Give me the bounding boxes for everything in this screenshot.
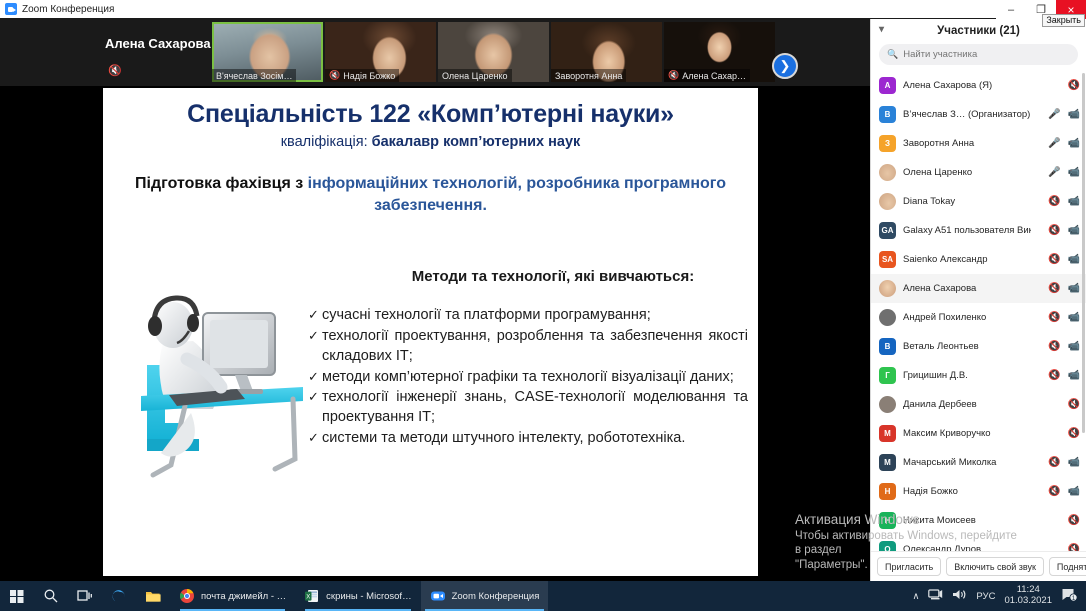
camera-muted-icon[interactable]: 📹 [1068, 458, 1080, 468]
microphone-muted-icon[interactable]: 🔇 [1048, 226, 1060, 236]
taskbar-app-chrome[interactable]: почта джимейл - … [170, 581, 295, 611]
list-item: ✓ технології інженерії знань, CASE-техно… [308, 388, 748, 428]
list-item: ✓ сучасні технології та платформи програ… [308, 306, 748, 326]
slide-lead-blue: інформаційних технологій, розробника про… [308, 175, 726, 214]
list-item[interactable]: A Алена Сахарова (Я) 🔇 [871, 71, 1086, 100]
active-speaker-name: Алена Сахарова [105, 36, 211, 51]
microphone-muted-icon: 🔇 [668, 71, 679, 80]
video-tile[interactable]: В'ячеслав Зосім… [212, 22, 323, 82]
camera-muted-icon[interactable]: 📹 [1068, 313, 1080, 323]
participant-status-icons: 🎤 📹 [1038, 139, 1080, 149]
microphone-muted-icon[interactable]: 🔇 [1068, 545, 1080, 552]
list-item[interactable]: З Заворотня Анна 🎤 📹 [871, 129, 1086, 158]
participant-status-icons: 🔇 📹 [1038, 371, 1080, 381]
slide-lead-text: Підготовка фахівця з інформаційних техно… [129, 173, 732, 216]
list-item-text: методи комп’ютерної графіки та технологі… [322, 368, 748, 388]
participant-name: Веталь Леонтьев [903, 341, 1031, 352]
language-indicator[interactable]: РУС [976, 591, 995, 602]
list-item[interactable]: M Мачарський Миколка 🔇 📹 [871, 448, 1086, 477]
microphone-muted-icon[interactable]: 🔇 [1048, 371, 1060, 381]
checkmark-icon: ✓ [308, 327, 322, 345]
video-tile-name-bar: Заворотня Анна [551, 69, 626, 82]
avatar: M [879, 454, 896, 471]
minimize-button[interactable]: – [996, 0, 1026, 19]
watermark-line-2: Чтобы активировать Windows, перейдите в … [795, 529, 1025, 558]
avatar [879, 309, 896, 326]
participant-status-icons: 🔇 📹 [1038, 458, 1080, 468]
avatar: M [879, 425, 896, 442]
methods-bullet-list: ✓ сучасні технології та платформи програ… [308, 306, 748, 450]
participant-status-icons: 🎤 📹 [1038, 110, 1080, 120]
avatar: H [879, 483, 896, 500]
list-item[interactable]: Г Грицишин Д.В. 🔇 📹 [871, 361, 1086, 390]
participant-name: Грицишин Д.В. [903, 370, 1031, 381]
clock-date: 01.03.2021 [1004, 596, 1052, 607]
participant-name: Алена Сахар… [682, 71, 746, 81]
participant-name: Saienko Александр [903, 254, 1031, 265]
slide-lead-black: Підготовка фахівця з [135, 175, 308, 192]
participant-name: Алена Сахарова [903, 283, 1031, 294]
camera-muted-icon[interactable]: 📹 [1068, 284, 1080, 294]
microphone-icon[interactable]: 🎤 [1048, 168, 1060, 178]
avatar: SA [879, 251, 896, 268]
microphone-muted-icon[interactable]: 🔇 [1048, 458, 1060, 468]
list-item-text: сучасні технології та платформи програму… [322, 306, 748, 326]
camera-muted-icon[interactable]: 📹 [1068, 226, 1080, 236]
participant-name: Алена Сахарова (Я) [903, 80, 1031, 91]
task-view-icon [77, 588, 93, 604]
methods-heading: Методи та технології, які вивчаються: [358, 268, 748, 285]
list-item[interactable]: Олена Царенко 🎤 📹 [871, 158, 1086, 187]
taskbar-app-excel[interactable]: X скрины - Microsof… [295, 581, 420, 611]
microphone-icon[interactable]: 🎤 [1048, 110, 1060, 120]
search-icon [43, 588, 59, 604]
list-item[interactable]: Diana Tokay 🔇 📹 [871, 187, 1086, 216]
camera-icon[interactable]: 📹 [1068, 487, 1080, 497]
person-at-computer-illustration [125, 273, 310, 498]
participant-status-icons: 🔇 📹 [1038, 197, 1080, 207]
microphone-icon[interactable]: 🎤 [1048, 139, 1060, 149]
camera-icon[interactable]: 📹 [1068, 110, 1080, 120]
checkmark-icon: ✓ [308, 429, 322, 447]
participant-status-icons: 🔇 📹 [1038, 255, 1080, 265]
participant-name: Надія Божко [903, 486, 1031, 497]
chrome-icon [179, 588, 195, 604]
filmstrip-next-button[interactable]: ❯ [772, 53, 798, 79]
avatar: Г [879, 367, 896, 384]
participant-status-icons: 🔇 📹 [1038, 226, 1080, 236]
participants-count-title: Участники (21) [937, 25, 1020, 37]
camera-muted-icon[interactable]: 📹 [1068, 197, 1080, 207]
participant-name: Заворотня Анна [903, 138, 1031, 149]
video-tile-name-bar: В'ячеслав Зосім… [212, 69, 296, 82]
participant-name: В’ячеслав З… (Организатор) [903, 109, 1031, 120]
slide-subtitle-label: кваліфікація: [281, 134, 372, 150]
participant-status-icons: 🔇 [1038, 400, 1080, 410]
participant-name: В'ячеслав Зосім… [216, 71, 292, 81]
list-item[interactable]: M Максим Криворучко 🔇 [871, 419, 1086, 448]
list-item[interactable]: B В’ячеслав З… (Организатор) 🎤 📹 [871, 100, 1086, 129]
video-tile[interactable]: Заворотня Анна [551, 22, 662, 82]
list-item[interactable]: SA Saienko Александр 🔇 📹 [871, 245, 1086, 274]
avatar [879, 396, 896, 413]
edge-icon [111, 588, 127, 604]
shared-screen-stage: Спеціальність 122 «Комп’ютерні науки» кв… [0, 86, 870, 581]
list-item[interactable]: B Веталь Леонтьев 🔇 📹 [871, 332, 1086, 361]
action-center-icon[interactable]: 1 [1061, 587, 1078, 605]
camera-icon[interactable]: 📹 [1068, 168, 1080, 178]
participant-status-icons: 🔇 [1038, 429, 1080, 439]
participant-status-icons: 🔇 📹 [1038, 284, 1080, 294]
zoom-icon [430, 588, 446, 604]
microphone-muted-icon: 🔇 [108, 64, 122, 77]
taskbar-app-label: Zoom Конференция [452, 591, 540, 602]
list-item[interactable]: Андрей Похиленко 🔇 📹 [871, 303, 1086, 332]
participant-status-icons: 🔇 📹 [1038, 313, 1080, 323]
microphone-muted-icon: 🔇 [329, 71, 340, 80]
search-input[interactable] [903, 49, 1070, 60]
clock[interactable]: 11:24 01.03.2021 [1004, 585, 1052, 607]
participant-name-text: В’ячеслав З… (Организатор) [903, 109, 1030, 120]
microphone-muted-icon[interactable]: 🔇 [1048, 487, 1060, 497]
participant-name: Данила Дербеев [903, 399, 1031, 410]
microphone-muted-icon[interactable]: 🔇 [1068, 516, 1080, 526]
list-item[interactable]: H Надія Божко 🔇 📹 [871, 477, 1086, 506]
avatar: B [879, 106, 896, 123]
slide-subtitle-value: бакалавр комп’ютерних наук [372, 134, 581, 150]
participant-name: Максим Криворучко [903, 428, 1031, 439]
participant-status-icons: 🔇 📹 [1038, 487, 1080, 497]
video-tile[interactable]: Олена Царенко [438, 22, 549, 82]
checkmark-icon: ✓ [308, 306, 322, 324]
microphone-muted-icon[interactable]: 🔇 [1048, 255, 1060, 265]
participant-status-icons: 🔇 [1038, 545, 1080, 552]
microphone-muted-icon[interactable]: 🔇 [1048, 197, 1060, 207]
list-item-text: технології інженерії знань, CASE-техноло… [322, 388, 748, 428]
list-item[interactable]: Алена Сахарова 🔇 📹 [871, 274, 1086, 303]
slide-title: Спеціальність 122 «Комп’ютерні науки» [103, 100, 758, 129]
volume-icon[interactable] [952, 588, 967, 604]
network-icon[interactable] [928, 588, 943, 604]
avatar [879, 193, 896, 210]
avatar: З [879, 135, 896, 152]
video-filmstrip: Алена Сахарова 🔇 В'ячеслав Зосім… 🔇 Наді… [0, 18, 870, 86]
list-item: ✓ технології проектування, розроблення т… [308, 327, 748, 367]
search-icon: 🔍 [887, 49, 898, 60]
checkmark-icon: ✓ [308, 388, 322, 406]
video-tile-name-bar: 🔇 Алена Сахар… [664, 69, 750, 82]
search-box[interactable]: 🔍 [879, 44, 1078, 65]
participant-name: Андрей Похиленко [903, 312, 1031, 323]
file-explorer-icon [145, 588, 161, 604]
microphone-muted-icon[interactable]: 🔇 [1068, 400, 1080, 410]
participant-name: Олена Царенко [442, 71, 508, 81]
zoom-icon [5, 3, 17, 15]
watermark-line-1: Активация Windows [795, 512, 1025, 529]
zoom-meeting-window: Zoom Конференция – ❐ × Закрыть Алена Сах… [0, 0, 1086, 611]
participant-status-icons: 🔇 [1038, 81, 1080, 91]
list-item-text: системи та методи штучного інтелекту, ро… [322, 429, 748, 449]
microphone-muted-icon[interactable]: 🔇 [1068, 81, 1080, 91]
presentation-slide: Спеціальність 122 «Комп’ютерні науки» кв… [103, 88, 758, 576]
participant-name: Надія Божко [343, 71, 395, 81]
list-item[interactable]: Данила Дербеев 🔇 [871, 390, 1086, 419]
raise-hand-button[interactable]: Поднять руку [1049, 557, 1086, 576]
list-item: ✓ методи комп’ютерної графіки та техноло… [308, 368, 748, 388]
video-tile-name-bar: Олена Царенко [438, 69, 512, 82]
taskbar-app-label: почта джимейл - … [201, 591, 286, 602]
participant-name: Мачарський Миколка [903, 457, 1031, 468]
microphone-muted-icon[interactable]: 🔇 [1048, 313, 1060, 323]
participants-search-wrap: 🔍 [871, 42, 1086, 71]
svg-text:X: X [306, 594, 310, 600]
camera-muted-icon[interactable]: 📹 [1068, 342, 1080, 352]
list-item-text: технології проектування, розроблення та … [322, 327, 748, 367]
slide-subtitle: кваліфікація: бакалавр комп’ютерних наук [103, 134, 758, 150]
participant-status-icons: 🔇 [1038, 516, 1080, 526]
video-tile[interactable]: 🔇 Надія Божко [325, 22, 436, 82]
list-item: ✓ системи та методи штучного інтелекту, … [308, 429, 748, 449]
video-tile-name-bar: 🔇 Надія Божко [325, 69, 399, 82]
participant-name: Олена Царенко [903, 167, 1031, 178]
window-title: Zoom Конференция [22, 4, 114, 15]
avatar [879, 164, 896, 181]
avatar: B [879, 338, 896, 355]
watermark-line-3: "Параметры". [795, 558, 1025, 572]
windows-taskbar: почта джимейл - … X скрины - Microsof… [0, 581, 1086, 611]
checkmark-icon: ✓ [308, 368, 322, 386]
excel-icon: X [304, 588, 320, 604]
microphone-muted-icon[interactable]: 🔇 [1048, 342, 1060, 352]
taskbar-app-zoom[interactable]: Zoom Конференция [421, 581, 549, 611]
participant-status-icons: 🎤 📹 [1038, 168, 1080, 178]
edge-button[interactable] [102, 581, 136, 611]
participants-panel: ▾ Участники (21) 🔍 A Алена Сахарова (Я) … [870, 19, 1086, 581]
microphone-muted-icon[interactable]: 🔇 [1068, 429, 1080, 439]
participants-list[interactable]: A Алена Сахарова (Я) 🔇 B В’ячеслав З… (О… [871, 71, 1086, 551]
participant-name: Заворотня Анна [555, 71, 622, 81]
list-item[interactable]: GA Galaxy A51 пользователя Викт… 🔇 📹 [871, 216, 1086, 245]
windows-activation-watermark: Активация Windows Чтобы активировать Win… [795, 512, 1025, 572]
camera-muted-icon[interactable]: 📹 [1068, 371, 1080, 381]
participants-scrollbar[interactable] [1082, 73, 1085, 433]
chevron-down-icon[interactable]: ▾ [879, 24, 884, 35]
participant-name: Galaxy A51 пользователя Викт… [903, 225, 1031, 236]
taskbar-app-label: скрины - Microsof… [326, 591, 411, 602]
avatar: GA [879, 222, 896, 239]
microphone-muted-icon[interactable]: 🔇 [1048, 284, 1060, 294]
task-view-button[interactable] [68, 581, 102, 611]
avatar [879, 280, 896, 297]
close-tooltip: Закрыть [1042, 14, 1085, 27]
window-titlebar: Zoom Конференция [0, 0, 1086, 18]
taskbar-search-button[interactable] [34, 581, 68, 611]
system-tray: ∧ РУС 11:24 01.03.2021 [912, 585, 1086, 607]
file-explorer-button[interactable] [136, 581, 170, 611]
camera-muted-icon[interactable]: 📹 [1068, 255, 1080, 265]
avatar: A [879, 77, 896, 94]
tray-chevron-up-icon[interactable]: ∧ [912, 591, 919, 602]
camera-icon[interactable]: 📹 [1068, 139, 1080, 149]
video-tile[interactable]: 🔇 Алена Сахар… [664, 22, 775, 82]
participant-status-icons: 🔇 📹 [1038, 342, 1080, 352]
start-button[interactable] [0, 581, 34, 611]
windows-start-icon [9, 588, 25, 604]
participant-name: Diana Tokay [903, 196, 1031, 207]
